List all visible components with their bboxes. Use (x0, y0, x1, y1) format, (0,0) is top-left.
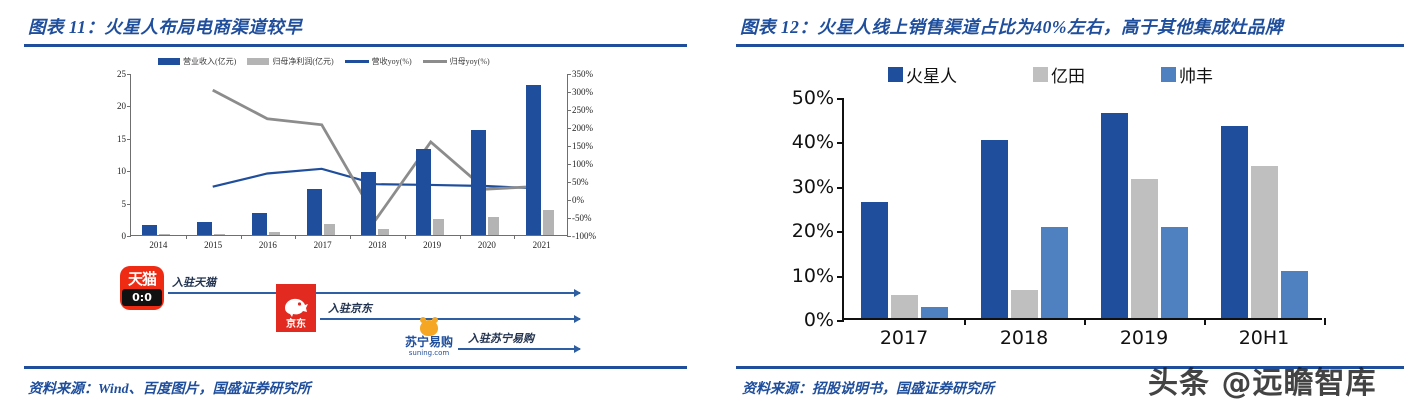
legend-label-profit-yoy: 归母yoy(%) (450, 56, 490, 67)
chart-11-bar-revenue (252, 213, 267, 235)
chart-11-xtick-mark (405, 235, 406, 239)
chart-11-tick-left (127, 171, 131, 172)
chart-12-xtick: 20H1 (1239, 327, 1290, 349)
figure-12-bottom-rule (736, 366, 1404, 369)
legend-swatch-net-profit (247, 58, 269, 65)
chart-12-xtick: 2017 (880, 327, 928, 349)
chart-12: 火星人 亿田 帅丰 0%10%20%30%40%50%2017201820192… (760, 58, 1400, 358)
legend-swatch-yitian (1033, 67, 1048, 82)
legend-item-revenue: 营业收入(亿元) (158, 56, 236, 67)
chart-12-xtick-mark (1084, 318, 1086, 325)
legend-swatch-huoxingren (888, 67, 903, 82)
chart-12-bar-huoxingren (1101, 113, 1128, 318)
figure-12-title: 图表 12：火星人线上销售渠道占比为40%左右，高于其他集成灶品牌 (740, 14, 1283, 39)
chart-11-tick-right (567, 74, 571, 75)
chart-11-tick-right (567, 92, 571, 93)
chart-11-bar-revenue (361, 172, 376, 235)
chart-12-tick (837, 231, 844, 233)
chart-11-bar-net-profit (433, 219, 444, 235)
chart-12-bar-huoxingren (981, 140, 1008, 318)
figure-panel-11: 图表 11：火星人布局电商渠道较早 营业收入(亿元) 归母净利润(亿元) 营收y… (0, 0, 711, 415)
chart-12-tick (837, 276, 844, 278)
chart-11-tick-right (567, 110, 571, 111)
jd-dog-icon (282, 294, 310, 318)
chart-12-xtick: 2018 (1000, 327, 1048, 349)
legend-item-revenue-yoy: 营收yoy(%) (345, 56, 412, 67)
figure-panel-12: 图表 12：火星人线上销售渠道占比为40%左右，高于其他集成灶品牌 火星人 亿田… (711, 0, 1422, 415)
chart-12-xtick-mark (1204, 318, 1206, 325)
chart-11-xtick: 2015 (204, 240, 222, 250)
figure-11-title: 图表 11：火星人布局电商渠道较早 (28, 14, 302, 39)
chart-11-bar-net-profit (378, 229, 389, 235)
suning-logo-text: 苏宁易购 (405, 336, 453, 349)
figure-11-bottom-rule (24, 366, 687, 369)
chart-11-tick-left (127, 139, 131, 140)
chart-12-tick (837, 187, 844, 189)
tmall-logo-bottom: 0:0 (122, 289, 162, 306)
legend-item-shuaifeng: 帅丰 (1161, 62, 1213, 87)
tmall-logo: 天猫 0:0 (120, 266, 164, 310)
chart-11-bar-net-profit (269, 232, 280, 235)
legend-label-shuaifeng: 帅丰 (1179, 62, 1213, 87)
chart-11-tick-right (567, 218, 571, 219)
figure-12-source: 资料来源：招股说明书，国盛证券研究所 (742, 378, 994, 398)
legend-item-yitian: 亿田 (1033, 62, 1085, 87)
timeline-arrow-tmall (168, 292, 580, 294)
figure-12-top-rule (736, 44, 1404, 47)
chart-11-tick-right (567, 182, 571, 183)
chart-12-bar-yitian (1131, 179, 1158, 318)
chart-12-legend: 火星人 亿田 帅丰 (888, 62, 1213, 87)
chart-12-bar-shuaifeng (921, 307, 948, 318)
chart-12-plot-area: 0%10%20%30%40%50%20172018201920H1 (842, 98, 1322, 320)
chart-12-bar-shuaifeng (1161, 227, 1188, 318)
chart-11-ytick-right: -100% (567, 231, 596, 241)
timeline-label-tmall: 入驻天猫 (172, 274, 216, 290)
chart-12-bar-shuaifeng (1281, 271, 1308, 318)
legend-item-huoxingren: 火星人 (888, 62, 957, 87)
chart-12-tick (837, 142, 844, 144)
chart-11-bar-net-profit (324, 224, 335, 235)
chart-11-xtick-mark (241, 235, 242, 239)
chart-12-xtick: 2019 (1120, 327, 1168, 349)
chart-12-bar-shuaifeng (1041, 227, 1068, 318)
chart-11-bar-revenue (526, 85, 541, 235)
suning-lion-icon (420, 320, 438, 336)
legend-line-profit-yoy (423, 60, 447, 63)
chart-12-bar-yitian (891, 295, 918, 318)
legend-swatch-shuaifeng (1161, 67, 1176, 82)
timeline-arrow-suning (458, 348, 580, 350)
chart-11-xtick-mark (186, 235, 187, 239)
report-page: 图表 11：火星人布局电商渠道较早 营业收入(亿元) 归母净利润(亿元) 营收y… (0, 0, 1422, 415)
chart-11-tick-left (127, 236, 131, 237)
chart-12-tick (837, 98, 844, 100)
chart-11-bar-net-profit (214, 234, 225, 235)
chart-11-plot-area: 0510152025-100%-50%0%50%100%150%200%250%… (130, 74, 568, 236)
figure-11-source: 资料来源：Wind、百度图片，国盛证券研究所 (28, 378, 311, 398)
chart-11-tick-left (127, 74, 131, 75)
timeline-label-jd: 入驻京东 (328, 300, 372, 316)
chart-11-xtick: 2014 (149, 240, 167, 250)
chart-11-xtick: 2018 (368, 240, 386, 250)
chart-11-xtick: 2020 (478, 240, 496, 250)
chart-11-tick-right (567, 164, 571, 165)
chart-12-xtick-mark (964, 318, 966, 325)
chart-11-bar-revenue (471, 130, 486, 235)
tmall-logo-top: 天猫 (128, 271, 156, 287)
chart-11-bar-net-profit (543, 210, 554, 235)
chart-11-bar-revenue (307, 189, 322, 235)
legend-item-net-profit: 归母净利润(亿元) (247, 56, 333, 67)
legend-label-net-profit: 归母净利润(亿元) (272, 56, 333, 67)
chart-12-bar-yitian (1011, 290, 1038, 318)
chart-11-xtick: 2021 (533, 240, 551, 250)
chart-11-xtick: 2019 (423, 240, 441, 250)
chart-11-bar-net-profit (159, 234, 170, 235)
timeline-label-suning: 入驻苏宁易购 (468, 330, 534, 346)
legend-label-huoxingren: 火星人 (906, 62, 957, 87)
chart-11-tick-left (127, 204, 131, 205)
ecommerce-timeline: 天猫 0:0 入驻天猫 京东 入驻京东 苏宁易购 suning.com 入驻苏宁… (120, 262, 590, 362)
chart-11-line-layer (131, 74, 567, 235)
chart-11-xtick-mark (350, 235, 351, 239)
chart-11-bar-revenue (142, 225, 157, 235)
chart-12-xtick-mark (1324, 318, 1326, 325)
chart-11-tick-right (567, 236, 571, 237)
legend-swatch-revenue (158, 58, 180, 65)
legend-line-revenue-yoy (345, 60, 369, 63)
chart-11-tick-right (567, 146, 571, 147)
legend-label-yitian: 亿田 (1051, 62, 1085, 87)
jd-logo-text: 京东 (286, 319, 306, 330)
chart-11-xtick-mark (514, 235, 515, 239)
chart-11-xtick-mark (460, 235, 461, 239)
chart-11-tick-left (127, 106, 131, 107)
chart-11-xtick: 2016 (259, 240, 277, 250)
chart-11-xtick: 2017 (314, 240, 332, 250)
legend-label-revenue: 营业收入(亿元) (183, 56, 236, 67)
chart-11: 营业收入(亿元) 归母净利润(亿元) 营收yoy(%) 归母yoy(%) 051… (96, 56, 616, 256)
chart-11-bar-net-profit (488, 217, 499, 235)
chart-11-tick-right (567, 200, 571, 201)
chart-11-xtick-mark (295, 235, 296, 239)
figure-11-top-rule (24, 44, 687, 47)
chart-11-tick-right (567, 128, 571, 129)
suning-logo: 苏宁易购 suning.com (398, 320, 460, 360)
legend-item-profit-yoy: 归母yoy(%) (423, 56, 490, 67)
legend-label-revenue-yoy: 营收yoy(%) (372, 56, 412, 67)
chart-11-bar-revenue (416, 149, 431, 235)
chart-12-bar-huoxingren (1221, 126, 1248, 318)
chart-11-legend: 营业收入(亿元) 归母净利润(亿元) 营收yoy(%) 归母yoy(%) (158, 56, 490, 67)
chart-11-bar-revenue (197, 222, 212, 235)
suning-logo-domain: suning.com (409, 349, 450, 357)
chart-12-bar-yitian (1251, 166, 1278, 318)
jd-logo: 京东 (276, 284, 316, 332)
chart-12-bar-huoxingren (861, 202, 888, 318)
chart-12-tick (837, 320, 844, 322)
